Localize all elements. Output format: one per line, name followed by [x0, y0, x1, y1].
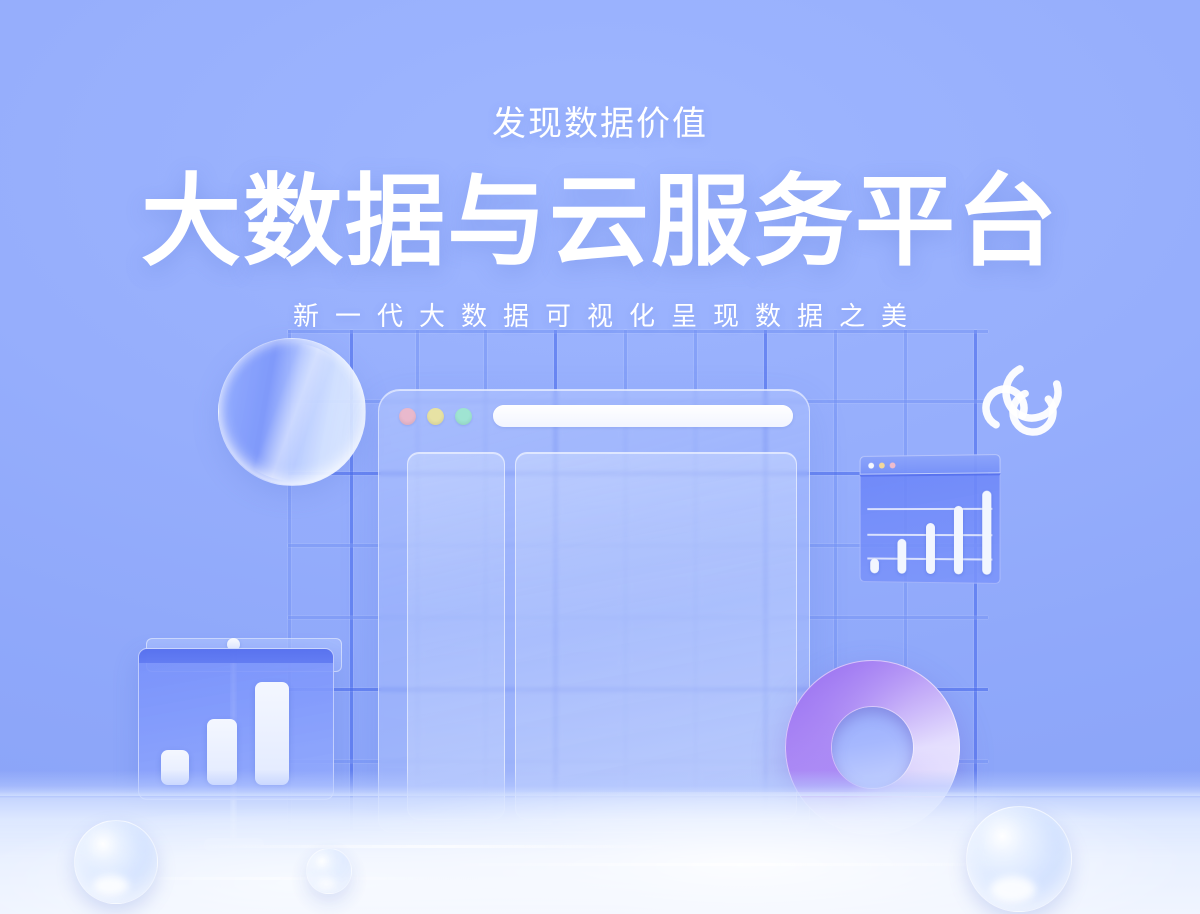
- maximize-dot[interactable]: [455, 408, 472, 425]
- chart-card[interactable]: [860, 454, 1001, 584]
- chart-card-title-bar: [860, 454, 1001, 475]
- chart-bar: [954, 506, 963, 574]
- hero-banner: 发现数据价值 大数据与云服务平台 新一代大数据可视化呈现数据之美: [0, 0, 1200, 914]
- monitor-bars: [161, 673, 315, 785]
- subtitle-text: 新一代大数据可视化呈现数据之美: [0, 296, 1200, 333]
- card-dot-1: [868, 462, 874, 468]
- glass-browser-mockup[interactable]: [378, 389, 810, 833]
- glass-disc: [218, 338, 366, 486]
- address-bar-input[interactable]: [493, 405, 793, 427]
- content-pane[interactable]: [515, 452, 797, 820]
- page-title: 大数据与云服务平台: [0, 168, 1200, 276]
- eyebrow-text: 发现数据价值: [0, 96, 1200, 145]
- cloud-icon: [975, 358, 1070, 443]
- chart-bar: [926, 523, 935, 574]
- chart-card-body: [860, 473, 1001, 584]
- chart-bar: [982, 491, 991, 575]
- glass-sphere-left: [74, 820, 158, 904]
- chart-bar: [898, 539, 907, 574]
- floor-streak: [180, 845, 700, 848]
- monitor-header: [139, 649, 333, 663]
- card-dot-2: [879, 462, 885, 468]
- minimize-dot[interactable]: [427, 408, 444, 425]
- glass-sphere-mid: [306, 848, 352, 894]
- browser-title-bar: [379, 390, 809, 442]
- sidebar-pane[interactable]: [407, 452, 505, 820]
- chart-bar: [870, 559, 879, 574]
- glass-sphere-right: [966, 806, 1072, 912]
- card-dot-3: [890, 462, 896, 468]
- close-dot[interactable]: [399, 408, 416, 425]
- floor-streak: [420, 863, 1060, 866]
- chart-card-bars: [870, 484, 991, 575]
